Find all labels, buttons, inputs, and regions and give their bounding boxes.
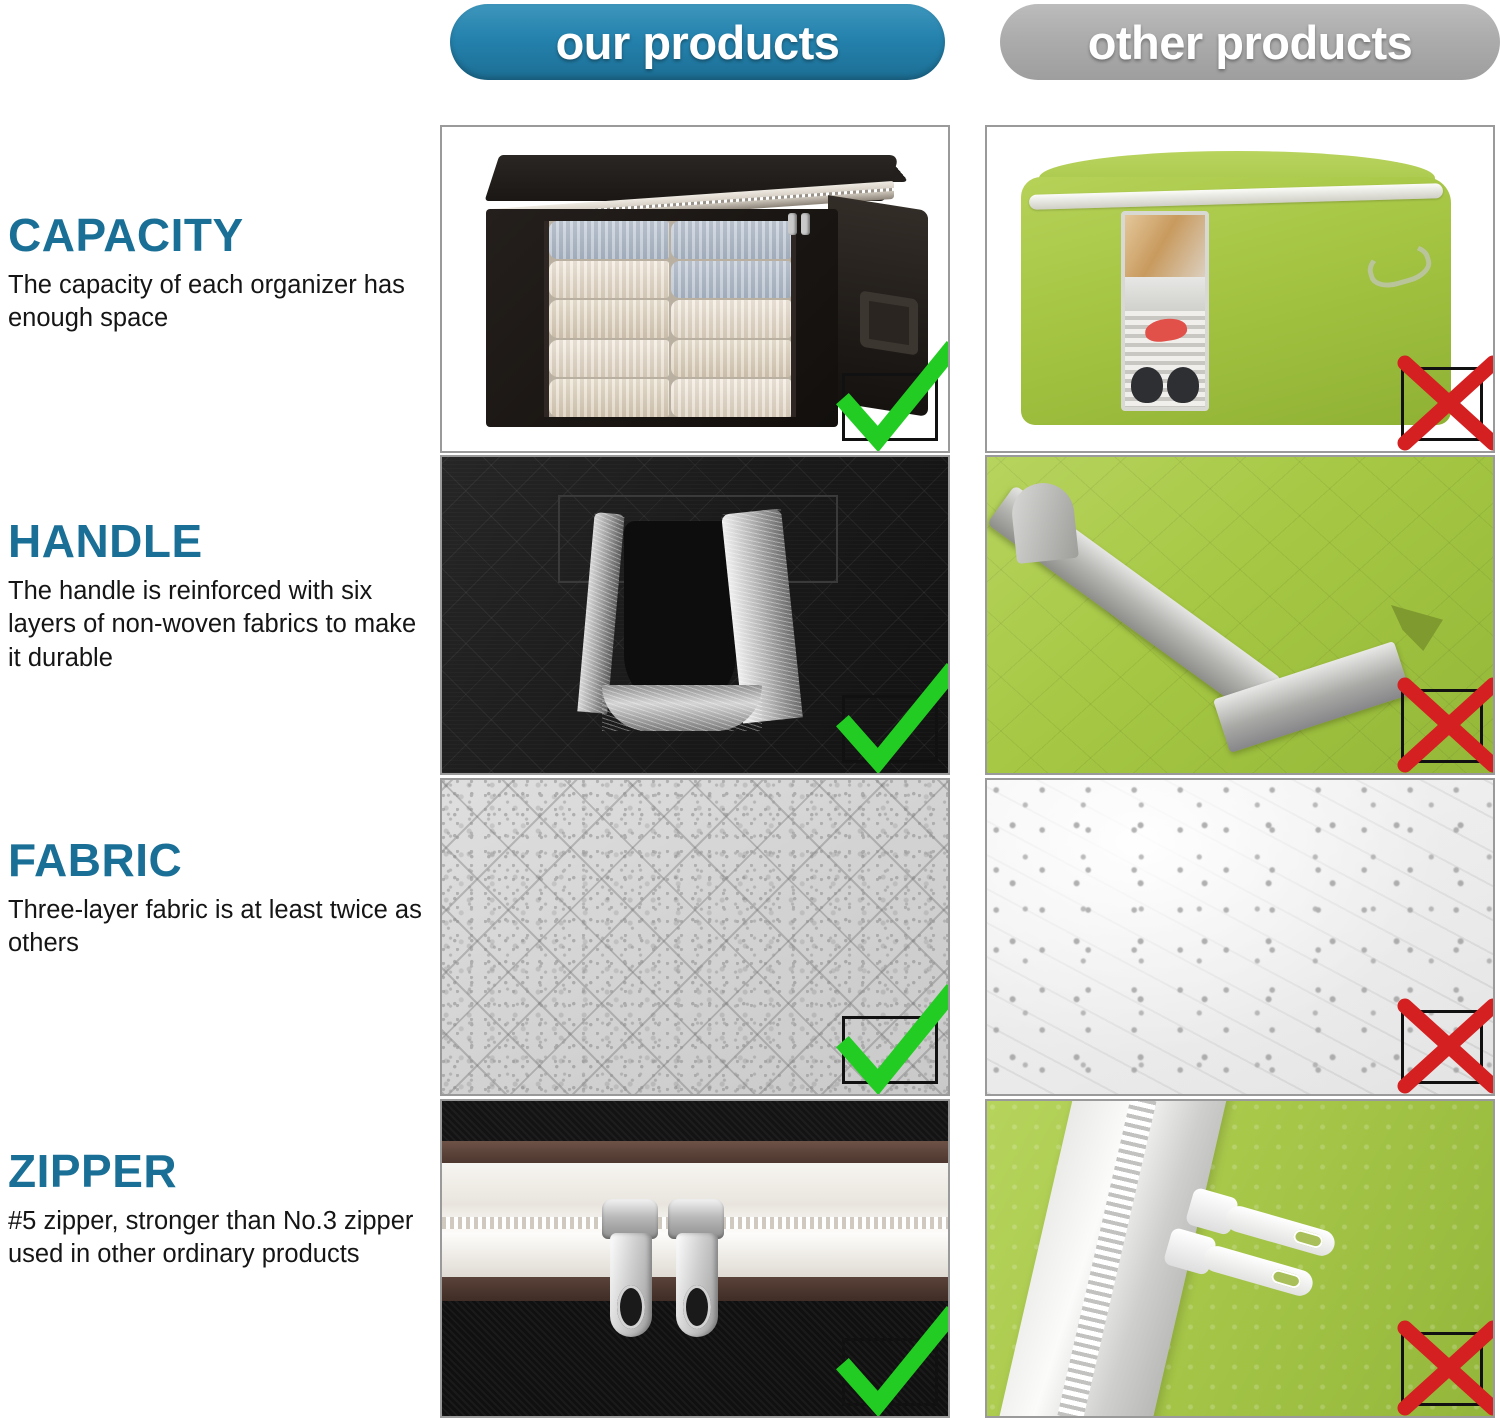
- other-products-badge: other products: [1000, 4, 1500, 80]
- check-mark-icon: [836, 669, 950, 769]
- handle-other-product-image: [985, 455, 1495, 775]
- cross-mark-icon: [1401, 361, 1495, 441]
- folded-sweater: [549, 340, 669, 378]
- sweater-stack-left: [549, 221, 669, 417]
- zipper-text-block: ZIPPER #5 zipper, stronger than No.3 zip…: [8, 1147, 433, 1272]
- folded-sweater: [549, 261, 669, 299]
- comparison-row-handle: HANDLE The handle is reinforced with six…: [0, 455, 1500, 775]
- handle-loop-opening: [624, 521, 736, 711]
- cross-mark-icon: [1401, 1326, 1495, 1406]
- check-badge: [842, 695, 938, 763]
- capacity-heading: CAPACITY: [8, 211, 433, 259]
- cross-mark-icon: [1401, 683, 1495, 763]
- capacity-our-product-image: [440, 125, 950, 453]
- folded-sweater: [549, 300, 669, 338]
- capacity-description: The capacity of each organizer has enoug…: [8, 269, 433, 335]
- brown-piping-top: [442, 1141, 948, 1165]
- fabric-our-product-image: [440, 778, 950, 1096]
- cross-badge: [1401, 1332, 1483, 1406]
- zipper-our-product-image: [440, 1099, 950, 1418]
- handle-strap-end-loop: [1009, 480, 1079, 564]
- check-mark-icon: [836, 347, 950, 447]
- comparison-row-fabric: FABRIC Three-layer fabric is at least tw…: [0, 778, 1500, 1096]
- cross-badge: [1401, 689, 1483, 763]
- check-badge: [842, 373, 938, 441]
- comparison-header: our products other products: [0, 0, 1500, 92]
- check-mark-icon: [836, 1312, 950, 1412]
- handle-our-product-image: [440, 455, 950, 775]
- fabric-text-block: FABRIC Three-layer fabric is at least tw…: [8, 836, 433, 961]
- organizer-front-panel: [486, 209, 838, 427]
- fabric-other-product-image: [985, 778, 1495, 1096]
- handle-description: The handle is reinforced with six layers…: [8, 575, 433, 674]
- organizer-clear-window: [544, 221, 796, 417]
- folded-sweater: [549, 221, 669, 259]
- zipper-other-product-image: [985, 1099, 1495, 1418]
- comparison-row-zipper: ZIPPER #5 zipper, stronger than No.3 zip…: [0, 1099, 1500, 1418]
- folded-sweater: [549, 379, 669, 417]
- capacity-other-product-image: [985, 125, 1495, 453]
- capacity-text-block: CAPACITY The capacity of each organizer …: [8, 211, 433, 336]
- metal-zipper-pull: [598, 1199, 662, 1369]
- folded-sweater: [671, 379, 791, 417]
- fabric-heading: FABRIC: [8, 836, 433, 884]
- folded-sweater: [671, 261, 791, 299]
- fabric-description: Three-layer fabric is at least twice as …: [8, 894, 433, 960]
- folded-sweater: [671, 221, 791, 259]
- check-badge: [842, 1338, 938, 1406]
- zipper-heading: ZIPPER: [8, 1147, 433, 1195]
- cross-badge: [1401, 1010, 1483, 1084]
- organizer-side-handle: [860, 290, 918, 355]
- green-bag-body: [1021, 177, 1451, 425]
- check-badge: [842, 1016, 938, 1084]
- handle-strap-bottom: [602, 685, 762, 731]
- folded-sweater: [671, 300, 791, 338]
- handle-text-block: HANDLE The handle is reinforced with six…: [8, 517, 433, 675]
- our-products-badge: our products: [450, 4, 945, 80]
- torn-fabric-area: [1391, 605, 1443, 651]
- handle-heading: HANDLE: [8, 517, 433, 565]
- green-bag-window: [1121, 211, 1209, 411]
- sweater-stack-right: [671, 221, 791, 417]
- folded-sweater: [671, 340, 791, 378]
- cross-mark-icon: [1401, 1004, 1495, 1084]
- comparison-row-capacity: CAPACITY The capacity of each organizer …: [0, 125, 1500, 453]
- black-fabric-top: [442, 1101, 948, 1143]
- cross-badge: [1401, 367, 1483, 441]
- organizer-zipper-pulls: [788, 213, 814, 239]
- zipper-description: #5 zipper, stronger than No.3 zipper use…: [8, 1205, 433, 1271]
- metal-zipper-pull: [664, 1199, 728, 1369]
- check-mark-icon: [836, 990, 950, 1090]
